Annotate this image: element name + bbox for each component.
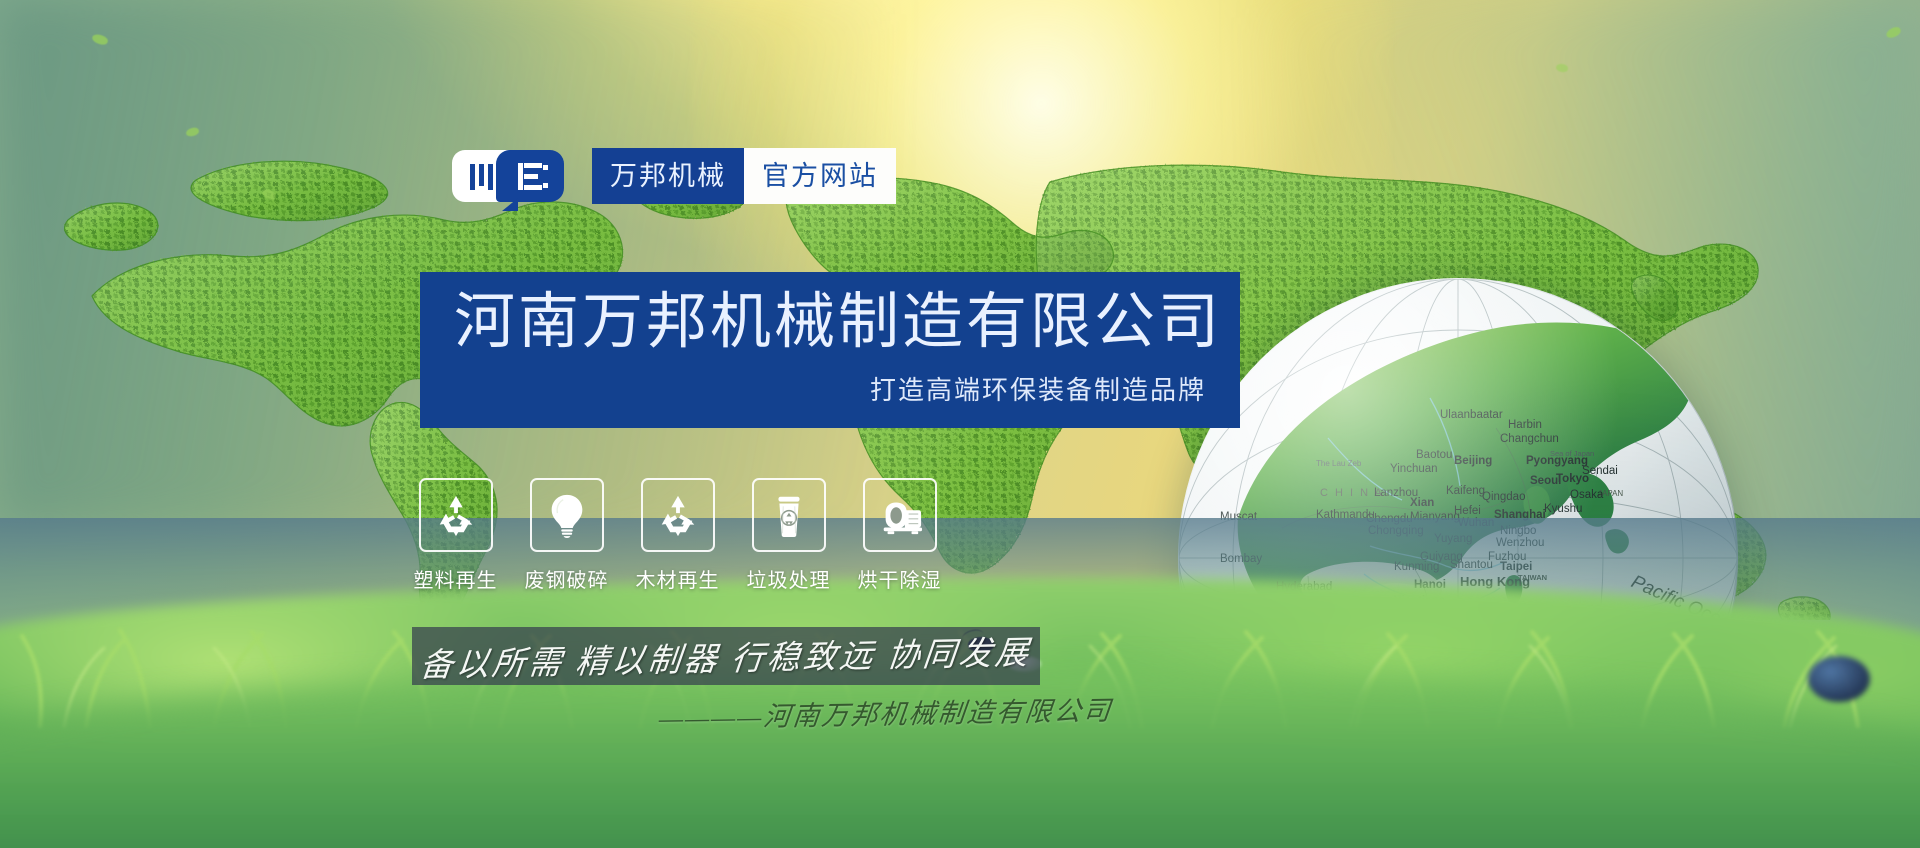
wanbang-logo-icon[interactable] bbox=[452, 150, 564, 202]
recycle-icon bbox=[433, 492, 479, 538]
logo-letter-b-icon bbox=[518, 163, 548, 190]
brand-tab-group: 万邦机械 官方网站 bbox=[592, 148, 896, 204]
site-header: 万邦机械 官方网站 bbox=[452, 148, 896, 204]
feature-icon-box bbox=[641, 478, 715, 552]
dryer-machine-icon bbox=[877, 492, 923, 538]
svg-text:Hefei: Hefei bbox=[1454, 505, 1481, 517]
feature-label: 木材再生 bbox=[636, 564, 720, 593]
feature-icon-box bbox=[419, 478, 493, 552]
svg-text:Pyongyang: Pyongyang bbox=[1526, 455, 1588, 467]
svg-text:Xian: Xian bbox=[1410, 497, 1434, 509]
feature-icon-box bbox=[752, 478, 826, 552]
trash-bin-icon bbox=[766, 492, 812, 538]
feature-wood-recycling[interactable]: 木材再生 bbox=[640, 478, 715, 593]
svg-text:Changchun: Changchun bbox=[1500, 433, 1559, 445]
svg-text:Kaifeng: Kaifeng bbox=[1446, 485, 1485, 497]
slogan-bar: 备以所需 精以制器 行稳致远 协同发展 bbox=[412, 627, 1040, 685]
homepage-banner: Pacific Ocean Indian Ocean South China S… bbox=[0, 0, 1920, 848]
logo-letter-w-icon bbox=[470, 164, 500, 190]
feature-label: 烘干除湿 bbox=[858, 564, 942, 593]
svg-text:Osaka: Osaka bbox=[1570, 489, 1604, 501]
page-subtitle: 打造高端环保装备制造品牌 bbox=[454, 370, 1206, 407]
svg-text:Kyushu: Kyushu bbox=[1544, 503, 1582, 515]
feature-icon-box bbox=[863, 478, 937, 552]
feature-scrap-steel-crushing[interactable]: 废钢破碎 bbox=[529, 478, 604, 593]
svg-text:Baotou: Baotou bbox=[1416, 449, 1452, 461]
svg-text:Sendai: Sendai bbox=[1582, 465, 1618, 477]
lightbulb-icon bbox=[544, 492, 590, 538]
feature-label: 塑料再生 bbox=[414, 564, 498, 593]
tab-brand-name[interactable]: 万邦机械 bbox=[592, 148, 744, 204]
svg-text:Qingdao: Qingdao bbox=[1482, 491, 1525, 503]
svg-text:The Lau Zeb: The Lau Zeb bbox=[1316, 459, 1362, 468]
recycle-icon bbox=[655, 492, 701, 538]
slogan-text: 备以所需 精以制器 行稳致远 协同发展 bbox=[418, 626, 1034, 687]
svg-text:Ulaanbaatar: Ulaanbaatar bbox=[1440, 409, 1503, 421]
company-title-banner: 河南万邦机械制造有限公司 打造高端环保装备制造品牌 bbox=[420, 272, 1240, 428]
feature-label: 废钢破碎 bbox=[525, 564, 609, 593]
feature-drying-dehumidifying[interactable]: 烘干除湿 bbox=[862, 478, 937, 593]
feature-waste-treatment[interactable]: 垃圾处理 bbox=[751, 478, 826, 593]
blue-berry bbox=[1808, 656, 1870, 702]
feature-label: 垃圾处理 bbox=[747, 564, 831, 593]
tab-official-site[interactable]: 官方网站 bbox=[744, 148, 896, 204]
feature-plastic-recycling[interactable]: 塑料再生 bbox=[418, 478, 493, 593]
svg-text:Harbin: Harbin bbox=[1508, 419, 1542, 431]
svg-text:Beijing: Beijing bbox=[1454, 455, 1492, 467]
feature-icon-box bbox=[530, 478, 604, 552]
svg-text:Yinchuan: Yinchuan bbox=[1390, 463, 1438, 475]
feature-icon-row: 塑料再生 废钢破碎 bbox=[418, 478, 937, 593]
page-title: 河南万邦机械制造有限公司 bbox=[454, 289, 1206, 355]
